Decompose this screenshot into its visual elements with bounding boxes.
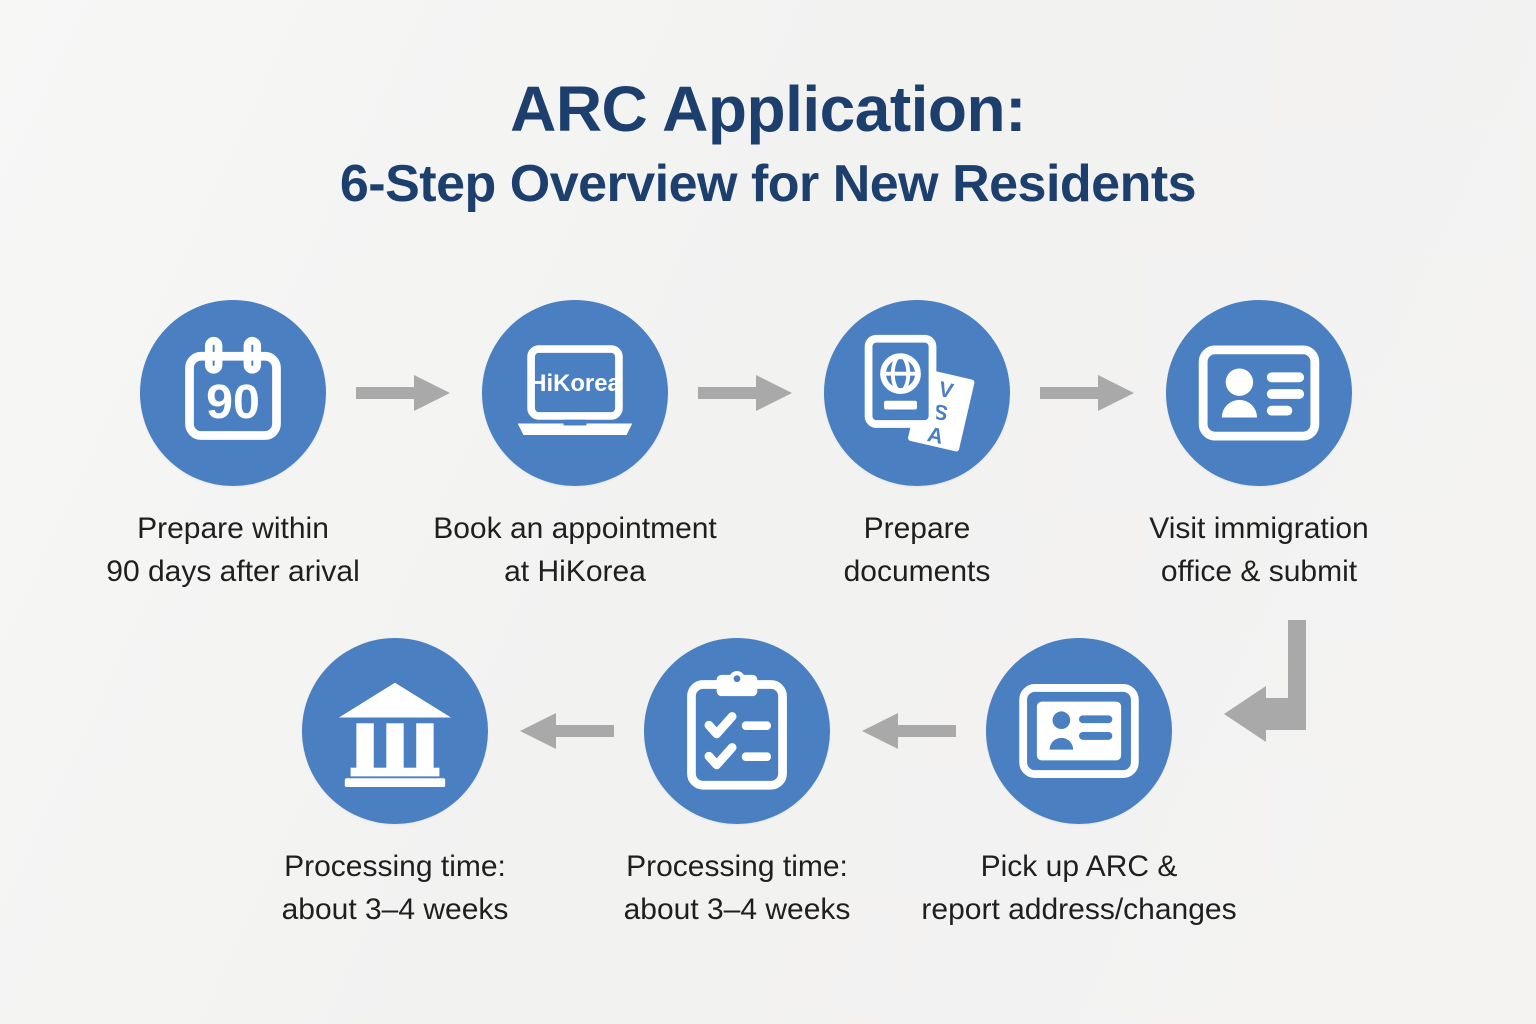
- step-6-caption-line2: about 3–4 weeks: [624, 889, 851, 932]
- step-5-caption: Pick up ARC & report address/changes: [921, 846, 1236, 931]
- laptop-hikorea-icon: HiKorea: [512, 337, 638, 449]
- step-4-visit-immigration-office[interactable]: Visit immigration office & submit: [1144, 300, 1374, 593]
- id-card-filled-icon: [1018, 683, 1140, 779]
- step-4-caption-line1: Visit immigration: [1149, 508, 1369, 551]
- step-3-caption-line1: Prepare: [844, 508, 991, 551]
- step-7-caption-line1: Processing time:: [282, 846, 509, 889]
- step-5-caption-line1: Pick up ARC &: [921, 846, 1236, 889]
- step-1-prepare-within-90-days[interactable]: 90 Prepare within 90 days after arival: [118, 300, 348, 593]
- step-2-book-appointment[interactable]: HiKorea Book an appointment at HiKorea: [460, 300, 690, 593]
- step-1-caption-line2: 90 days after arival: [106, 551, 359, 594]
- step-3-icon-circle: V S A: [824, 300, 1010, 486]
- step-1-icon-circle: 90: [140, 300, 326, 486]
- connector-arrow-4: [510, 638, 622, 824]
- step-4-caption-line2: office & submit: [1149, 551, 1369, 594]
- step-7-caption-line2: about 3–4 weeks: [282, 889, 509, 932]
- infographic-canvas: ARC Application: 6-Step Overview for New…: [0, 0, 1536, 1024]
- heading-block: ARC Application: 6-Step Overview for New…: [0, 76, 1536, 213]
- step-5-icon-circle: [986, 638, 1172, 824]
- step-2-caption-line2: at HiKorea: [433, 551, 717, 594]
- step-1-caption-line1: Prepare within: [106, 508, 359, 551]
- step-7-caption: Processing time: about 3–4 weeks: [282, 846, 509, 931]
- step-7-processing-time-b[interactable]: Processing time: about 3–4 weeks: [280, 638, 510, 931]
- calendar-icon-number: 90: [206, 375, 260, 429]
- steps-row-top: 90 Prepare within 90 days after arival: [118, 300, 1438, 593]
- step-6-caption: Processing time: about 3–4 weeks: [624, 846, 851, 931]
- step-6-processing-time-a[interactable]: Processing time: about 3–4 weeks: [622, 638, 852, 931]
- arrow-right-icon: [1040, 369, 1136, 417]
- step-3-prepare-documents[interactable]: V S A Prepare documents: [802, 300, 1032, 593]
- connector-arrow-3: [1032, 300, 1144, 486]
- connector-arrow-1: [348, 300, 460, 486]
- id-card-icon: [1198, 345, 1320, 441]
- arrow-right-icon: [698, 369, 794, 417]
- arrow-left-icon: [860, 707, 956, 755]
- step-5-caption-line2: report address/changes: [921, 889, 1236, 932]
- step-2-caption-line1: Book an appointment: [433, 508, 717, 551]
- step-2-icon-circle: HiKorea: [482, 300, 668, 486]
- step-4-icon-circle: [1166, 300, 1352, 486]
- arrow-left-icon: [518, 707, 614, 755]
- step-2-caption: Book an appointment at HiKorea: [433, 508, 717, 593]
- page-subtitle: 6-Step Overview for New Residents: [0, 155, 1536, 213]
- calendar-90-icon: 90: [175, 335, 291, 451]
- step-4-caption: Visit immigration office & submit: [1149, 508, 1369, 593]
- clipboard-checklist-icon: [681, 669, 793, 793]
- steps-row-bottom: Processing time: about 3–4 weeks: [280, 638, 1400, 931]
- step-3-caption-line2: documents: [844, 551, 991, 594]
- step-7-icon-circle: [302, 638, 488, 824]
- government-building-icon: [335, 675, 455, 787]
- connector-arrow-5: [852, 638, 964, 824]
- step-5-pick-up-arc[interactable]: Pick up ARC & report address/changes: [964, 638, 1194, 931]
- laptop-screen-text: HiKorea: [529, 370, 621, 397]
- step-1-caption: Prepare within 90 days after arival: [106, 508, 359, 593]
- arrow-right-icon: [356, 369, 452, 417]
- step-3-caption: Prepare documents: [844, 508, 991, 593]
- step-6-icon-circle: [644, 638, 830, 824]
- step-6-caption-line1: Processing time:: [624, 846, 851, 889]
- connector-arrow-2: [690, 300, 802, 486]
- passport-visa-icon: V S A: [855, 331, 979, 455]
- page-title: ARC Application:: [0, 76, 1536, 143]
